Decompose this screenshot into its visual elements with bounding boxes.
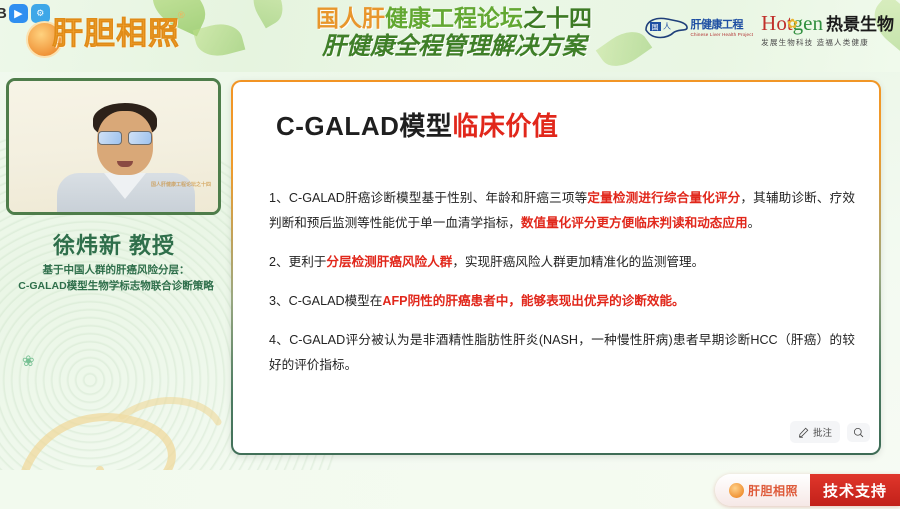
- footer-brand-name: 肝胆相照: [748, 482, 798, 499]
- paragraph-segment: 4、C-GALAD评分被认为是非酒精性脂肪性肝炎(NASH，一种慢性肝病)患者早…: [269, 333, 855, 372]
- slide-body: 1、C-GALAD肝癌诊断模型基于性别、年龄和肝癌三项等定量检测进行综合量化评分…: [269, 186, 855, 378]
- slide-paragraph-p4: 4、C-GALAD评分被认为是非酒精性脂肪性肝炎(NASH，一种慢性肝病)患者早…: [269, 328, 855, 378]
- slide-paragraph-p3: 3、C-GALAD模型在AFP阴性的肝癌患者中，能够表现出优异的诊断效能。: [269, 289, 855, 314]
- annotation-toolbar: 批注: [790, 421, 870, 443]
- liver-project-en: Chinese Liver Health Project: [691, 31, 754, 38]
- event-title-seg-1: 国人肝: [316, 5, 385, 31]
- paragraph-segment-highlight: 数值量化评分更方便临床判读和动态应用: [521, 216, 748, 230]
- brand-name-left: 肝胆相照: [52, 8, 180, 53]
- page-footer: 肝胆相照 技术支持: [0, 470, 900, 509]
- liver-project-cn: 肝健康工程: [691, 20, 754, 31]
- app-root: ❀ B ▶ ⚙ 肝胆相照 ® 国人肝健康工程论坛之十四 肝健康全程管理解决方案: [0, 0, 900, 509]
- page-title-dark: C-GALAD模型: [276, 111, 452, 141]
- video-watermark: 国人肝健康工程论坛之十四: [148, 182, 214, 208]
- tech-support-banner[interactable]: 肝胆相照 技术支持: [715, 474, 900, 506]
- hotgen-cn: 热景生物: [826, 10, 894, 35]
- butterfly-icon: ❀: [22, 352, 35, 370]
- gear-icon[interactable]: ⚙: [31, 4, 50, 23]
- event-title-seg-2: 健康工程论坛: [385, 5, 523, 31]
- page-header: B ▶ ⚙ 肝胆相照 ® 国人肝健康工程论坛之十四 肝健康全程管理解决方案 国 …: [0, 0, 900, 72]
- paragraph-segment: 3、C-GALAD模型在: [269, 294, 382, 308]
- speaker-topic-line2: C-GALAD模型生物学标志物联合诊断策略: [4, 278, 228, 294]
- speaker-video-panel[interactable]: 国人肝健康工程论坛之十四: [6, 78, 221, 215]
- liver-project-mark-icon: 国 人: [643, 14, 689, 44]
- svg-text:国: 国: [651, 24, 658, 32]
- paragraph-segment: 。: [748, 216, 761, 230]
- brand-seal-icon: [729, 483, 744, 498]
- magnifier-icon: [853, 427, 864, 438]
- butterfly-icon: ✿: [787, 16, 798, 32]
- page-title-red: 临床价值: [452, 111, 558, 141]
- speaker-topic-line1: 基于中国人群的肝癌风险分层：: [4, 262, 228, 278]
- paragraph-segment-highlight: 定量检测进行综合量化评分: [587, 191, 740, 205]
- paragraph-segment: 2、更利于: [269, 255, 326, 269]
- edge-letter: B: [0, 5, 7, 22]
- logo-liver-health-project: 国 人 肝健康工程 Chinese Liver Health Project: [643, 14, 754, 44]
- page-title: C-GALAD模型临床价值: [276, 106, 558, 143]
- play-icon[interactable]: ▶: [9, 4, 28, 23]
- svg-text:人: 人: [663, 22, 671, 31]
- annotate-button[interactable]: 批注: [790, 421, 840, 443]
- logo-hotgen: Hotgen 热景生物 发展生物科技 造福人类健康: [761, 10, 894, 48]
- glasses-icon: [98, 131, 152, 144]
- event-title-block: 国人肝健康工程论坛之十四 肝健康全程管理解决方案: [284, 4, 624, 62]
- paragraph-segment: ，实现肝癌风险人群更加精准化的监测管理。: [452, 255, 704, 269]
- header-logos: 国 人 肝健康工程 Chinese Liver Health Project H…: [643, 10, 894, 48]
- zoom-button[interactable]: [847, 423, 870, 442]
- video-watermark-text: 国人肝健康工程论坛之十四: [148, 182, 214, 188]
- speaker-name: 徐炜新 教授: [0, 228, 228, 260]
- slide-paragraph-p2: 2、更利于分层检测肝癌风险人群，实现肝癌风险人群更加精准化的监测管理。: [269, 250, 855, 275]
- speaker-topic: 基于中国人群的肝癌风险分层： C-GALAD模型生物学标志物联合诊断策略: [4, 262, 228, 294]
- footer-brand: 肝胆相照: [715, 474, 810, 506]
- event-title-seg-3: 之十四: [523, 5, 592, 31]
- tech-support-label: 技术支持: [810, 474, 900, 506]
- registered-mark: ®: [178, 10, 185, 20]
- slide-paragraph-p1: 1、C-GALAD肝癌诊断模型基于性别、年龄和肝癌三项等定量检测进行综合量化评分…: [269, 186, 855, 236]
- event-title-line2: 肝健康全程管理解决方案: [284, 32, 624, 62]
- pencil-icon: [798, 427, 809, 438]
- slide-card[interactable]: C-GALAD模型临床价值 1、C-GALAD肝癌诊断模型基于性别、年龄和肝癌三…: [231, 80, 881, 455]
- paragraph-segment-highlight: AFP阴性的肝癌患者中，能够表现出优异的诊断效能。: [382, 294, 684, 308]
- paragraph-segment: 1、C-GALAD肝癌诊断模型基于性别、年龄和肝癌三项等: [269, 191, 587, 205]
- paragraph-segment-highlight: 分层检测肝癌风险人群: [326, 255, 452, 269]
- annotate-label: 批注: [813, 425, 832, 439]
- event-title-line1: 国人肝健康工程论坛之十四: [284, 4, 624, 32]
- hotgen-tagline: 发展生物科技 造福人类健康: [761, 37, 869, 48]
